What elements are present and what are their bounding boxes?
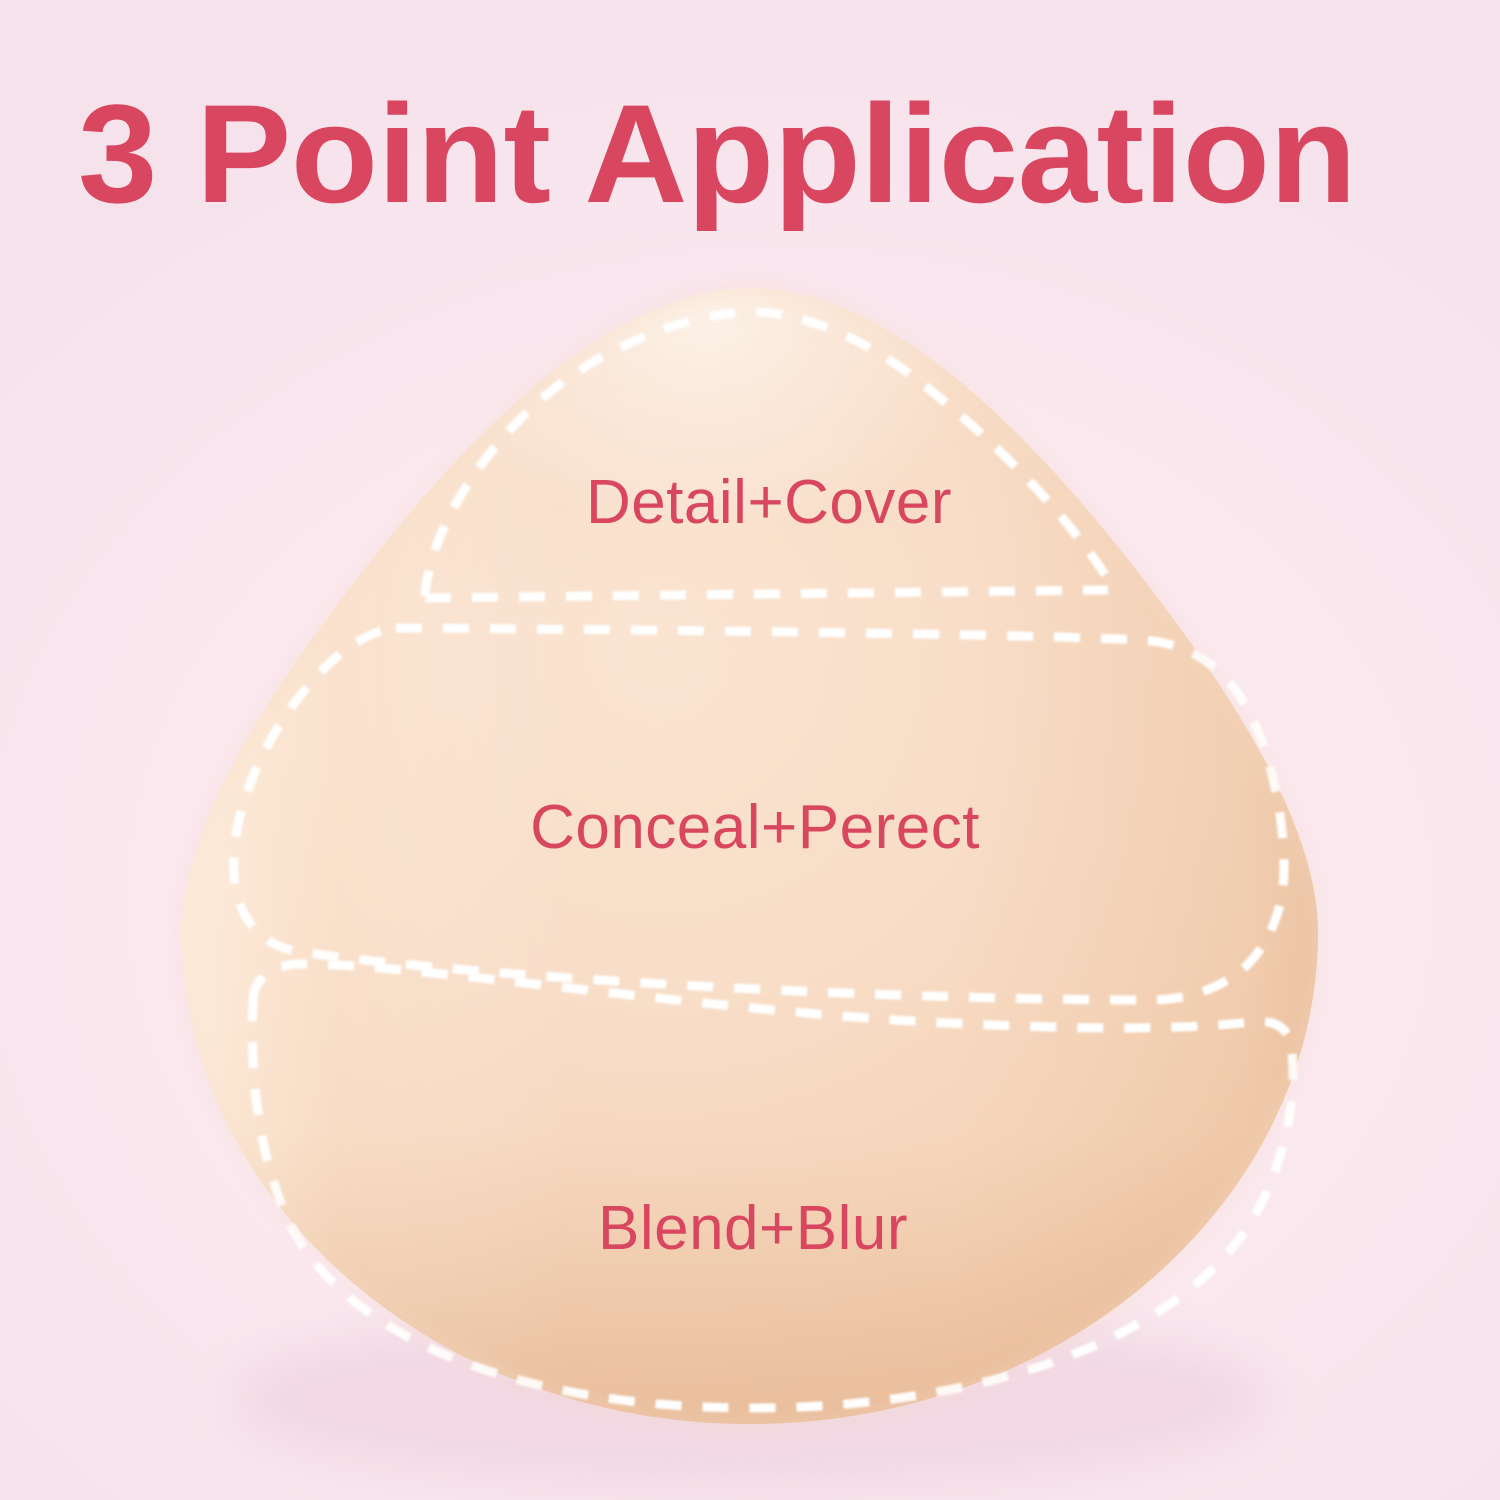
poster-canvas: 3 Point Application bbox=[0, 0, 1500, 1500]
zone-label-conceal-perfect: Conceal+Perect bbox=[0, 792, 1500, 863]
zone-label-blend-blur: Blend+Blur bbox=[0, 1193, 1500, 1264]
sponge-svg bbox=[0, 0, 1500, 1500]
zone-label-detail-cover: Detail+Cover bbox=[0, 467, 1500, 538]
sponge-illustration bbox=[0, 0, 1500, 1500]
